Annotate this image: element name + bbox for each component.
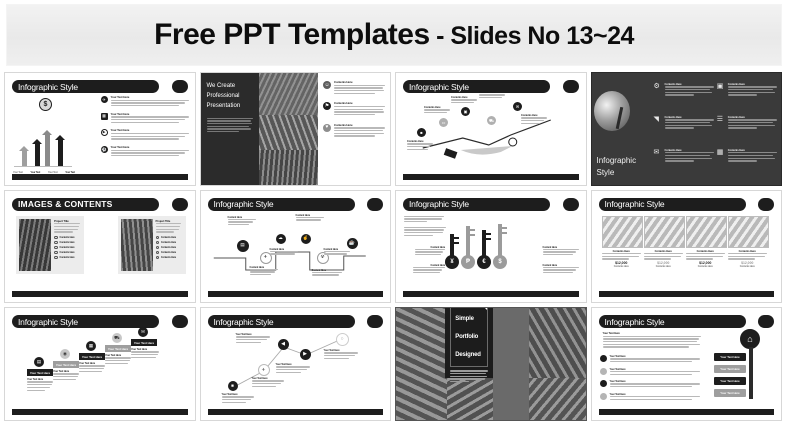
bullet-row: Contents Here [156,256,183,260]
slide-2-headline: We Create Professional Presentation [201,73,260,132]
portfolio-panel: Simple Portfolio Designed [445,308,492,377]
bullet-row: Contents Here [54,236,81,240]
step-text-2: Your Text Here [53,370,79,381]
book-icon: ▤ [34,357,44,367]
user-icon: ☺ [323,81,331,89]
gear-icon: ⚙ [654,83,662,113]
product-photo [686,216,727,248]
slide-thumbnail-11[interactable]: Simple Portfolio Designed [395,307,587,421]
callout: Content Here [324,248,350,257]
slide-8-titlebar: Infographic Style [599,198,775,211]
page-header: Free PPT Templates - Slides No 13~24 [6,4,782,66]
slide-5-title-pill: IMAGES & CONTENTS [12,198,159,211]
headline-line: We Create [207,82,254,92]
callout: Your Text Here [276,363,310,374]
list-item: Your Text Here [600,355,700,364]
slide-thumbnail-1[interactable]: Infographic Style $ [4,72,196,186]
yen-key-head: ¥ [445,255,459,269]
monitor-icon: ▭ [439,118,448,127]
product-photo [728,216,769,248]
heart-icon: ♥ [323,124,331,132]
city-photo [259,150,318,185]
zigzag-connector [399,90,583,165]
slide-gallery-page: Free PPT Templates - Slides No 13~24 Inf… [0,0,786,423]
bar-label-2: Your Text Here [714,365,746,373]
arrow-bar-4 [55,135,65,166]
slide-thumbnail-3[interactable]: Infographic Style ■ ▭ ▣ ⛟ ✉ Contents Her… [395,72,587,186]
arrow-body [35,144,40,166]
slide-8-footer [599,291,775,297]
key-shank [749,347,753,399]
camera-icon: ◉ [60,349,70,359]
bullet-row: Contents Here [156,241,183,245]
slide-5-title: IMAGES & CONTENTS [12,199,113,209]
calc-icon: ▦ [86,341,96,351]
calculator-icon: ▦ [101,113,108,120]
list-item: ▦ Your Text Here [101,113,189,125]
image-icon: ▣ [461,107,470,116]
dollar-badge-icon: $ [39,98,52,111]
arrow-body [45,135,50,166]
play-icon: ▶ [101,129,108,136]
stop-icon: ■ [228,381,238,391]
slide-9-footer [12,409,188,415]
slide-3-footer [403,174,579,180]
grid-item: ◥ Contents Here [654,116,714,146]
callout: Content Here [413,264,445,275]
page-title-main: Free PPT Templates [154,18,430,51]
slide-9-titlebar: Infographic Style [12,315,188,328]
product-card-3: Contents Here $12,000 Contents Here [686,216,725,268]
folded-corner-icon [480,307,487,310]
page-title-sub: - Slides No 13~24 [430,22,634,50]
product-caption: Contents Here [728,265,767,268]
home-icon: ⌂ [740,329,760,349]
panel-1: Project Title Contents Here Contents Her… [16,216,84,274]
bullet-gray-icon [600,393,607,400]
slide-3-content: Infographic Style ■ ▭ ▣ ⛟ ✉ Contents Her… [399,76,583,182]
cloud-icon: ☁ [276,234,286,244]
bullet-icon [156,256,160,260]
bullet-icon [54,251,58,255]
step-text-4: Your Text Here [105,354,131,365]
city-photo-2 [121,219,153,271]
slide-5-accent-pill [172,198,188,211]
book-icon: ▤ [237,240,249,252]
callout: Content Here [543,264,579,275]
slide-12-titlebar: Infographic Style [599,315,775,328]
step-label-2: Your Text Here [53,361,79,368]
slide-thumbnail-7[interactable]: Infographic Style ¥ [395,190,587,304]
slide-thumbnail-4[interactable]: Infographic Style ⚙ Contents Here ▣ Cont… [591,72,783,186]
list-item: ▶ Your Text Here [101,129,189,141]
slide-6-footer [208,291,384,297]
grid-item: ☰ Contents Here [717,116,777,146]
slide-4-title-line2: Style [597,167,637,179]
portfolio-line1: Simple [455,316,473,322]
slide-7-title: Infographic Style [403,199,469,209]
slide-11-content: Simple Portfolio Designed [396,308,586,420]
cart-icon: ⛟ [112,333,122,343]
city-photo-1 [19,219,51,271]
slide-thumbnail-12[interactable]: Infographic Style Your Text Here Your Te… [591,307,783,421]
bullet-row: Contents Here [156,246,183,250]
slide-8-content: Infographic Style Contents Here $12,000 … [595,194,779,300]
callout: Your Text Here [252,377,284,388]
slide-9-title-pill: Infographic Style [12,315,159,328]
portfolio-line3: Designed [455,352,480,358]
bullet-row: Contents Here [54,251,81,255]
road-photo [259,73,318,115]
callout: Content Here [415,246,445,257]
callout: Content Here [270,248,298,257]
mail-icon: ✉ [138,327,148,337]
callout: Content Here [312,269,342,278]
bullet-icon [54,246,58,250]
bar-label-4: Your Text Here [714,389,746,397]
soccer-icon: ⚽ [101,146,108,153]
slide-12-title-pill: Infographic Style [599,315,746,328]
callout: Content Here [543,246,579,257]
slide-8-title-pill: Infographic Style [599,198,746,211]
rocket-icon: ✈ [258,364,270,376]
callout: Content Here [296,214,324,223]
list-item: Your Text Here [600,393,700,402]
panel-1-text: Project Title Contents Here Contents Her… [54,216,84,274]
bullet-icon [156,251,160,255]
slide-10-footer [208,409,384,415]
slide-6-content: Infographic Style ▤ ✈ ☁ ☝ ☢ ☕ Content He… [204,194,388,300]
bullet-icon [54,236,58,240]
slide-1-footer [12,174,188,180]
dollar-key: $ [495,224,502,256]
step-label-3: Your Text Here [79,353,105,360]
baby-grass-photo [529,378,586,420]
product-photo [644,216,685,248]
callout: Contents Here [424,106,450,115]
slide-4-content: Infographic Style ⚙ Contents Here ▣ Cont… [592,73,782,185]
slide-7-titlebar: Infographic Style [403,198,579,211]
mail-icon: ✉ [654,149,662,179]
euro-key: € [479,230,486,256]
list-item: Your Text Here [600,380,700,389]
bullet-gray-icon [600,368,607,375]
bullet-row: Contents Here [156,236,183,240]
intro-text [404,216,446,238]
grid-item: ▦ Contents Here [717,149,777,179]
cart-icon: ⛟ [487,116,496,125]
headline-line: Presentation [207,102,254,112]
slide-1-titlebar: Infographic Style [12,80,188,93]
slide-thumbnail-9[interactable]: Infographic Style ▤ Your Text Here Your … [4,307,196,421]
slide-4-icon-grid: ⚙ Contents Here ▣ Contents Here ◥ Conten… [654,83,778,179]
door-lock-photo [594,91,630,131]
slide-thumbnail-8[interactable]: Infographic Style Contents Here $12,000 … [591,190,783,304]
baby-phone-photo [447,378,492,420]
panel-2: Project Title Contents Here Contents Her… [118,216,186,274]
bullet-dark-icon [600,380,607,387]
slide-9-accent-pill [172,315,188,328]
bullet-icon [156,236,160,240]
slide-8-accent-pill [758,198,774,211]
list-item: Your Text Here [600,368,700,377]
product-caption: Contents Here [644,265,683,268]
slide-7-content: Infographic Style ¥ [399,194,583,300]
product-photo [602,216,643,248]
product-card-2: Contents Here $12,000 Contents Here [644,216,683,268]
bullet-icon [54,241,58,245]
thumb-icon: ☝ [301,234,311,244]
slide-7-accent-pill [563,198,579,211]
slide-1-content: Infographic Style $ [8,76,192,182]
arrow-body [58,140,63,166]
mail-icon: ✉ [513,102,522,111]
step-text-3: Your Text Here [79,362,105,373]
callout: Content Here [228,216,256,227]
bullet-row: Contents Here [54,256,81,260]
ring-icon: ○ [336,333,349,346]
callout: Content Here [250,266,278,277]
headline-line: Professional [207,92,254,102]
rocket-icon: ✈ [101,96,108,103]
briefcase-icon: ■ [417,128,426,137]
dollar-key-head: $ [493,255,507,269]
slide-7-footer [403,291,579,297]
slide-1-list: ✈ Your Text Here ▦ Your Text Here ▶ Your… [101,96,189,158]
arrow-bar-2 [32,139,42,166]
callout: Your Text Here [324,349,358,360]
product-card-1: Contents Here $12,000 Contents Here [602,216,641,268]
product-caption: Contents Here [602,265,641,268]
yen-key: ¥ [447,234,454,256]
slide-8-title: Infographic Style [599,199,665,209]
bullet-row: Contents Here [156,251,183,255]
slide-grid: Infographic Style $ [0,70,786,423]
slide-1-accent-pill [172,80,188,93]
step-label-5: Your Text Here [131,339,157,346]
list-item: ☺ Contents Here [323,81,385,95]
bullet-icon [156,241,160,245]
grid-item: ▣ Contents Here [717,83,777,113]
slide-12-content: Infographic Style Your Text Here Your Te… [595,311,779,417]
bullet-row: Contents Here [54,246,81,250]
list-item: ✈ Your Text Here [101,96,189,108]
list-item: ⚽ Your Text Here [101,146,189,158]
slide-thumbnail-2[interactable]: We Create Professional Presentation [200,72,392,186]
callout: Contents Here [521,114,547,125]
slide-2-dark-panel: We Create Professional Presentation [201,73,260,185]
step-text-5: Your Text Here [131,348,159,359]
chat-icon: ☰ [717,116,725,146]
baseline-axis [14,166,72,167]
peso-key-head: ₱ [461,255,475,269]
slide-4-title: Infographic Style [597,155,637,179]
slide-thumbnail-6[interactable]: Infographic Style ▤ ✈ ☁ ☝ ☢ ☕ Content He… [200,190,392,304]
bulb-icon: ⚑ [323,102,331,110]
callout: Contents Here [479,91,505,100]
slide-9-title: Infographic Style [12,317,78,327]
slide-12-title: Infographic Style [599,317,665,327]
portfolio-body [450,370,487,383]
bar-label-3: Your Text Here [714,377,746,385]
image-icon: ▣ [717,83,725,113]
product-card-4: Contents Here $12,000 Contents Here [728,216,767,268]
step-label-4: Your Text Here [105,345,131,352]
step-label-1: Your Text Here [27,369,53,376]
slide-12-intro: Your Text Here [603,332,701,349]
slide-12-footer [599,409,775,415]
megaphone-icon: ◀ [278,339,289,350]
grid-item: ⚙ Contents Here [654,83,714,113]
page-title: Free PPT Templates - Slides No 13~24 [154,18,634,52]
slide-5-titlebar: IMAGES & CONTENTS [12,198,188,211]
slide-2-list: ☺ Contents Here ⚑ Contents Here ♥ Conten… [318,73,390,185]
slide-1-title-pill: Infographic Style [12,80,159,93]
peso-key: ₱ [463,226,470,256]
dollar-badge-label: $ [44,101,48,108]
slide-7-title-pill: Infographic Style [403,198,550,211]
tunnel-photo [259,115,318,150]
step-text-1: Your Text Here [27,378,53,392]
callout: Contents Here [407,140,433,151]
bullet-row: Contents Here [54,241,81,245]
bullet-dark-icon [600,355,607,362]
slide-5-content: IMAGES & CONTENTS Project Title Contents… [8,194,192,300]
chart-icon: ◥ [654,116,662,146]
slide-thumbnail-5[interactable]: IMAGES & CONTENTS Project Title Contents… [4,190,196,304]
portfolio-line2: Portfolio [455,334,478,340]
callout: Contents Here [451,96,477,105]
slide-1-title: Infographic Style [12,82,78,92]
mother-child-photo [529,308,586,377]
euro-key-head: € [477,255,491,269]
grid-icon: ▦ [717,149,725,179]
slide-12-list: Your Text Here Your Text Here Your Text … [600,355,700,401]
callout: Your Text Here [236,333,270,344]
callout: Your Text Here [222,393,254,404]
list-item: ⚑ Contents Here [323,102,385,116]
bullet-icon [156,246,160,250]
grid-item: ✉ Contents Here [654,149,714,179]
slide-4-title-line1: Infographic [597,155,637,167]
slide-10-content: Infographic Style ■ ✈ ◀ ▶ ○ Your Text He… [204,311,388,417]
play-icon: ▶ [300,349,311,360]
bullet-icon [54,256,58,260]
slide-12-accent-pill [758,315,774,328]
product-caption: Contents Here [686,265,725,268]
panel-2-text: Project Title Contents Here Contents Her… [156,216,186,274]
arrow-bar-1 [19,146,29,166]
slide-5-footer [12,291,188,297]
slide-2-content: We Create Professional Presentation [201,73,391,185]
bar-label-1: Your Text Here [714,353,746,361]
arrow-bar-3 [42,130,52,166]
arrow-body [22,151,27,166]
list-item: ♥ Contents Here [323,124,385,138]
slide-thumbnail-10[interactable]: Infographic Style ■ ✈ ◀ ▶ ○ Your Text He… [200,307,392,421]
slide-9-content: Infographic Style ▤ Your Text Here Your … [8,311,192,417]
